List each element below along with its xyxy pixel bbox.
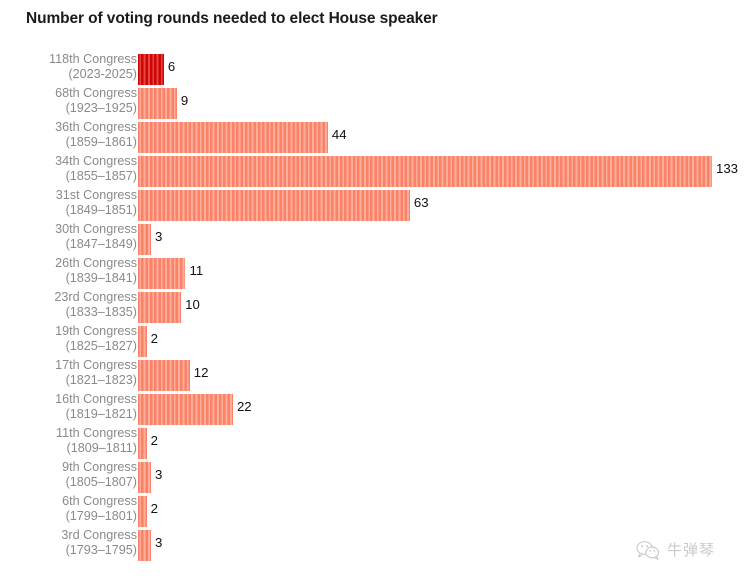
bar [138,54,164,85]
congress-name: 16th Congress [17,392,137,407]
congress-name: 68th Congress [17,86,137,101]
bar-row: 118th Congress(2023-2025)6 [0,52,753,86]
watermark: 牛弹琴 [636,539,715,560]
congress-name: 19th Congress [17,324,137,339]
bar-row: 31st Congress(1849–1851)63 [0,188,753,222]
congress-name: 3rd Congress [17,528,137,543]
bar-category-label: 68th Congress(1923–1925) [17,86,137,115]
bar-value-label: 9 [181,93,188,108]
bar-fill [138,190,410,221]
congress-years: (1923–1925) [17,101,137,116]
bar-value-label: 2 [151,331,158,346]
bar-row: 36th Congress(1859–1861)44 [0,120,753,154]
congress-years: (1799–1801) [17,509,137,524]
congress-name: 30th Congress [17,222,137,237]
bar [138,394,233,425]
bar [138,428,147,459]
congress-years: (1805–1807) [17,475,137,490]
bar-fill [138,360,190,391]
bar-row: 34th Congress(1855–1857)133 [0,154,753,188]
congress-years: (1819–1821) [17,407,137,422]
bar-category-label: 31st Congress(1849–1851) [17,188,137,217]
bar-category-label: 19th Congress(1825–1827) [17,324,137,353]
bar-value-label: 3 [155,535,162,550]
bar-fill [138,462,151,493]
bar-fill [138,224,151,255]
bar-row: 11th Congress(1809–1811)2 [0,426,753,460]
bar-row: 19th Congress(1825–1827)2 [0,324,753,358]
congress-years: (1847–1849) [17,237,137,252]
congress-name: 118th Congress [17,52,137,67]
bar-value-label: 22 [237,399,252,414]
congress-name: 31st Congress [17,188,137,203]
bar [138,496,147,527]
bar-value-label: 11 [189,263,203,278]
bar [138,326,147,357]
bar-category-label: 6th Congress(1799–1801) [17,494,137,523]
bar [138,88,177,119]
bar-value-label: 6 [168,59,175,74]
congress-name: 26th Congress [17,256,137,271]
congress-name: 36th Congress [17,120,137,135]
bar-row: 17th Congress(1821–1823)12 [0,358,753,392]
bar-chart-plot-area: 118th Congress(2023-2025)668th Congress(… [0,52,753,552]
bar-value-label: 44 [332,127,347,142]
bar-category-label: 17th Congress(1821–1823) [17,358,137,387]
bar-value-label: 3 [155,229,162,244]
bar [138,156,712,187]
bar-row: 26th Congress(1839–1841)11 [0,256,753,290]
bar [138,258,185,289]
congress-years: (1821–1823) [17,373,137,388]
bar-fill [138,496,147,527]
bar-row: 30th Congress(1847–1849)3 [0,222,753,256]
bar [138,224,151,255]
congress-years: (2023-2025) [17,67,137,82]
bar-value-label: 133 [716,161,738,176]
bar-value-label: 12 [194,365,209,380]
page-title: Number of voting rounds needed to elect … [26,10,438,28]
bar-category-label: 9th Congress(1805–1807) [17,460,137,489]
congress-name: 17th Congress [17,358,137,373]
bar-value-label: 2 [151,501,158,516]
bar [138,190,410,221]
bar-fill [138,394,233,425]
bar-row: 16th Congress(1819–1821)22 [0,392,753,426]
bar-fill [138,156,712,187]
bar-row: 9th Congress(1805–1807)3 [0,460,753,494]
bar-value-label: 63 [414,195,429,210]
congress-years: (1825–1827) [17,339,137,354]
bar-category-label: 23rd Congress(1833–1835) [17,290,137,319]
bar-fill [138,258,185,289]
congress-name: 11th Congress [17,426,137,441]
bar-fill [138,326,147,357]
bar-category-label: 26th Congress(1839–1841) [17,256,137,285]
bar-category-label: 3rd Congress(1793–1795) [17,528,137,557]
watermark-label: 牛弹琴 [667,539,715,560]
bar-fill [138,54,164,85]
bar-category-label: 34th Congress(1855–1857) [17,154,137,183]
bar-category-label: 36th Congress(1859–1861) [17,120,137,149]
bar [138,530,151,561]
congress-years: (1833–1835) [17,305,137,320]
congress-years: (1859–1861) [17,135,137,150]
bar [138,462,151,493]
bar-category-label: 16th Congress(1819–1821) [17,392,137,421]
chart-figure: Number of voting rounds needed to elect … [0,0,753,586]
bar-row: 23rd Congress(1833–1835)10 [0,290,753,324]
bar-fill [138,88,177,119]
congress-years: (1855–1857) [17,169,137,184]
bar-row: 6th Congress(1799–1801)2 [0,494,753,528]
bar-row: 68th Congress(1923–1925)9 [0,86,753,120]
congress-years: (1809–1811) [17,441,137,456]
bar-category-label: 11th Congress(1809–1811) [17,426,137,455]
bar-fill [138,292,181,323]
congress-name: 23rd Congress [17,290,137,305]
wechat-icon [636,540,660,560]
bar [138,122,328,153]
bar [138,360,190,391]
bar-category-label: 30th Congress(1847–1849) [17,222,137,251]
bar-fill [138,428,147,459]
congress-name: 6th Congress [17,494,137,509]
congress-years: (1849–1851) [17,203,137,218]
bar-value-label: 10 [185,297,200,312]
bar [138,292,181,323]
congress-name: 34th Congress [17,154,137,169]
bar-value-label: 2 [151,433,158,448]
congress-years: (1793–1795) [17,543,137,558]
congress-name: 9th Congress [17,460,137,475]
bar-fill [138,530,151,561]
congress-years: (1839–1841) [17,271,137,286]
bar-category-label: 118th Congress(2023-2025) [17,52,137,81]
bar-fill [138,122,328,153]
bar-value-label: 3 [155,467,162,482]
